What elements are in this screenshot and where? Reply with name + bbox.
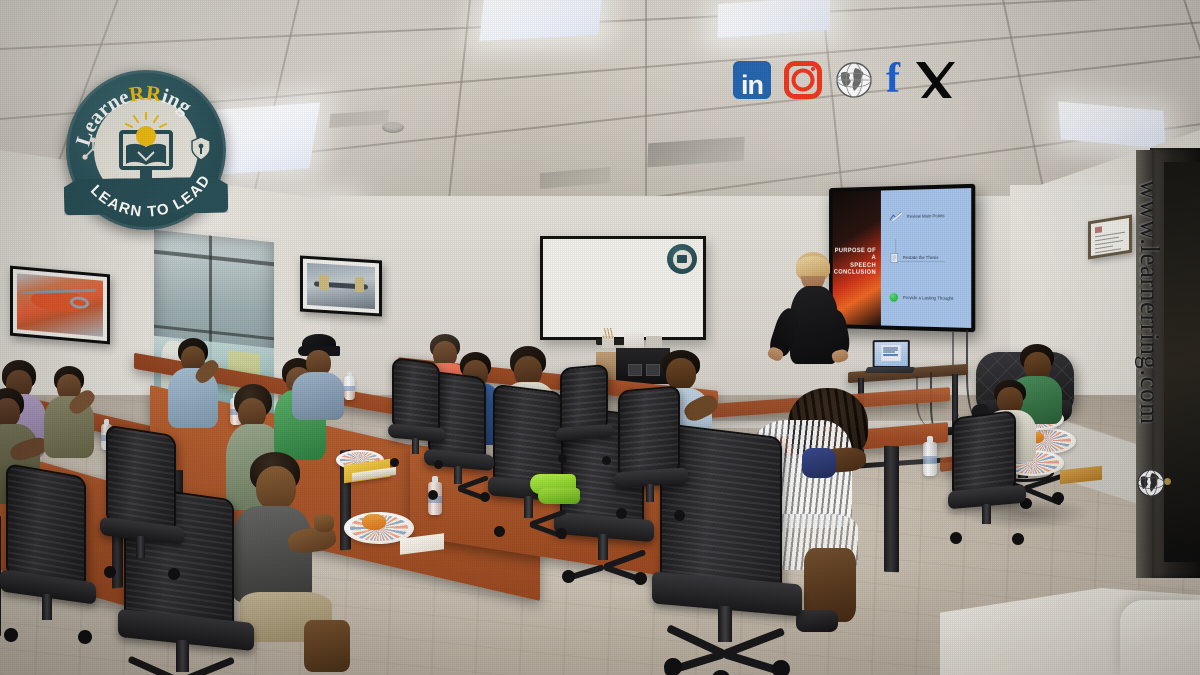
facebook-label: f (886, 63, 900, 97)
facebook-icon[interactable]: f (886, 63, 900, 97)
white-cloth (1120, 600, 1200, 675)
smoke-detector-icon (382, 122, 404, 133)
chart-icon (890, 212, 902, 221)
ceiling-vent (540, 167, 610, 189)
office-chair[interactable] (388, 360, 456, 464)
x-icon[interactable] (913, 60, 955, 100)
student (168, 338, 226, 442)
office-chair[interactable] (614, 388, 700, 514)
instagram-icon[interactable] (784, 61, 822, 99)
framed-certificate (1088, 215, 1132, 260)
classroom-scene: PURPOSE OF A SPEECH CONCLUSION Review Ma… (0, 0, 1200, 675)
linkedin-icon[interactable]: in (733, 61, 771, 99)
student (44, 366, 102, 472)
laptop[interactable] (873, 340, 910, 368)
framed-photo-helicopter (10, 266, 110, 345)
water-bottle[interactable] (923, 442, 937, 476)
door-glass (1164, 162, 1200, 562)
ceiling-vent (329, 110, 389, 128)
office-chair[interactable] (556, 366, 626, 466)
document-icon (890, 253, 898, 263)
ceiling-light-panel (479, 0, 602, 41)
presenter (772, 252, 852, 402)
whiteboard-logo (667, 244, 697, 274)
whiteboard[interactable] (540, 236, 706, 340)
brand-logo-badge: LearneRRing (66, 70, 226, 230)
dot-icon (890, 293, 899, 302)
slide-bullet: Review Main Points (890, 211, 945, 221)
slide-bullet-text: Review Main Points (907, 213, 945, 219)
ceiling-light-panel (717, 0, 830, 38)
slide-bullet: Provide a Lasting Thought (890, 293, 954, 303)
office-chair[interactable] (948, 414, 1040, 546)
supplies-box (646, 336, 662, 348)
slide-bullet-text: Provide a Lasting Thought (903, 295, 953, 301)
ceiling-light-panel (1058, 102, 1166, 149)
tissue-box (624, 332, 644, 348)
student (286, 334, 348, 404)
slide-bullet: Restate the Thesis (890, 252, 938, 262)
sneakers (538, 488, 580, 504)
snack-food (362, 514, 386, 530)
website-url-vertical: www.learnerring.com (1134, 180, 1165, 425)
office-chair[interactable] (100, 430, 196, 570)
globe-icon (1136, 468, 1166, 498)
presenter-hand (831, 348, 849, 364)
linkedin-label: in (741, 73, 763, 99)
framed-photo-aircraft (300, 255, 382, 316)
slide-body-panel: Review Main Points Restate the Thesis Pr… (881, 188, 971, 328)
pencils (603, 328, 613, 338)
social-icon-bar: in f (733, 60, 955, 100)
office-chair[interactable] (0, 470, 110, 640)
ceiling-vent (647, 137, 744, 168)
slide-bullet-text: Restate the Thesis (903, 255, 939, 260)
laptop-keyboard[interactable] (865, 367, 915, 373)
svg-text:LEARN TO LEAD: LEARN TO LEAD (87, 171, 214, 220)
globe-icon[interactable] (835, 61, 873, 99)
logo-tagline-arc: LEARN TO LEAD (66, 70, 226, 230)
